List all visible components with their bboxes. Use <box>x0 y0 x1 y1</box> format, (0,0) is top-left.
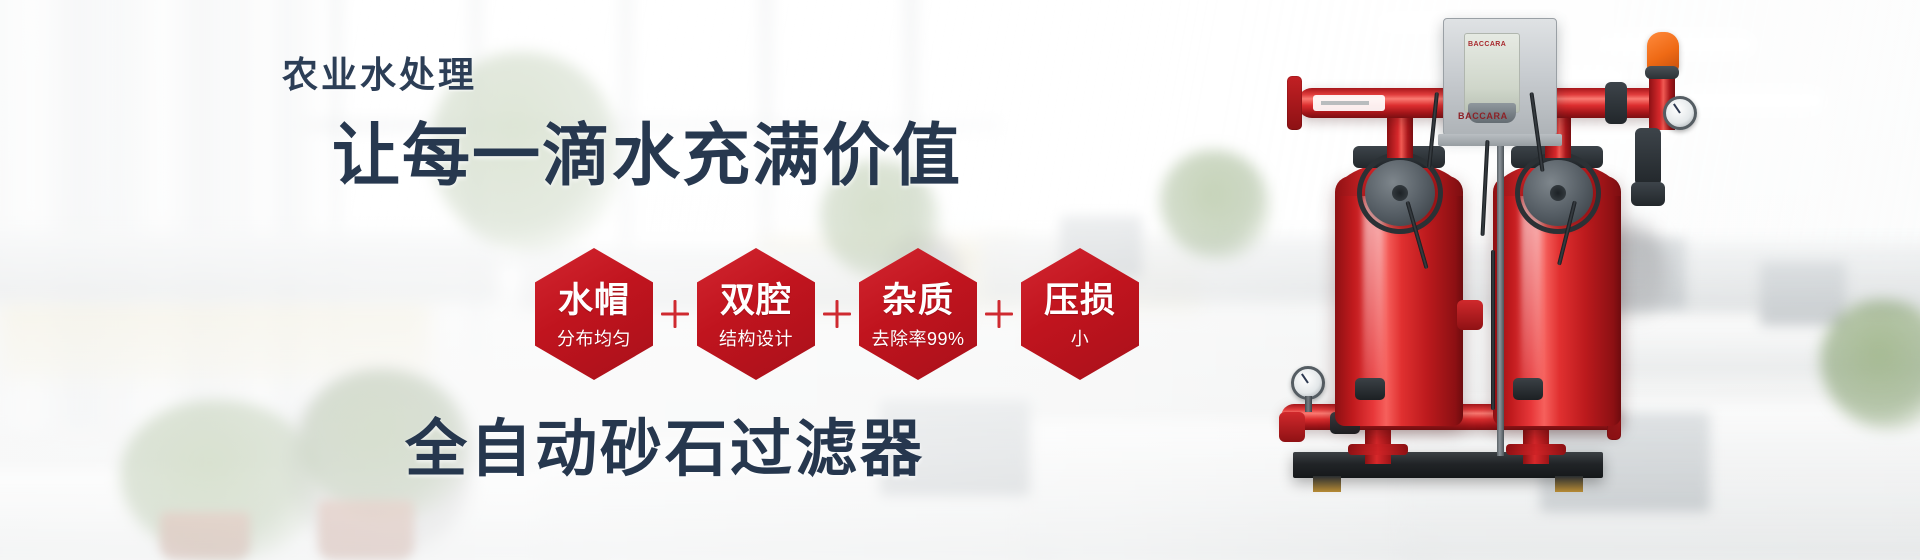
badge-title: 水帽 <box>558 283 630 319</box>
feature-badge-impurity[interactable]: 杂质 去除率99% <box>859 248 977 380</box>
feature-badge-dual-chamber[interactable]: 双腔 结构设计 <box>697 248 815 380</box>
manifold-clamp-upper <box>1605 82 1627 124</box>
hero-banner: 农业水处理 让每一滴水充满价值 全自动砂石过滤器 水帽 分布均匀 双腔 结构设计… <box>0 0 1920 560</box>
hexagon-shape: 压损 小 <box>1021 248 1139 380</box>
badge-subtitle: 去除率99% <box>871 325 964 351</box>
base-foot <box>1555 476 1583 492</box>
banner-eyebrow: 农业水处理 <box>282 46 477 98</box>
control-cable <box>1480 140 1489 236</box>
plus-separator-icon <box>815 292 859 336</box>
plus-separator-icon <box>977 292 1021 336</box>
right-valve-base <box>1631 182 1665 206</box>
control-cable <box>1491 250 1495 410</box>
badge-title: 杂质 <box>882 283 954 319</box>
valve-bolt-ring-right <box>1515 152 1601 234</box>
tank-inspection-port <box>1457 300 1483 330</box>
plus-separator-icon <box>653 292 697 336</box>
base-foot <box>1313 476 1341 492</box>
badge-subtitle: 小 <box>1071 325 1090 351</box>
controller-logo: BACCARA <box>1458 111 1508 121</box>
pressure-gauge-upper <box>1663 96 1697 130</box>
badge-subtitle: 分布均匀 <box>557 325 631 351</box>
tank-leg-plate <box>1348 444 1408 455</box>
filter-controller-box[interactable]: BACCARA BACCARA <box>1443 18 1557 136</box>
tank-drain-left <box>1355 378 1385 400</box>
side-outlet-port <box>1279 412 1305 442</box>
feature-badge-water-cap[interactable]: 水帽 分布均匀 <box>535 248 653 380</box>
banner-headline: 让每一滴水充满价值 <box>332 100 962 199</box>
steel-base-frame <box>1293 452 1603 478</box>
tank-drain-right <box>1513 378 1543 400</box>
pressure-gauge-lower <box>1291 366 1325 400</box>
tank-leg-plate <box>1506 444 1566 455</box>
feature-badge-pressure-loss[interactable]: 压损 小 <box>1021 248 1139 380</box>
controller-mount-plate <box>1438 134 1562 146</box>
badge-title: 压损 <box>1044 283 1116 319</box>
badge-subtitle: 结构设计 <box>719 325 793 351</box>
hexagon-shape: 双腔 结构设计 <box>697 248 815 380</box>
controller-support-pole <box>1497 146 1504 456</box>
hexagon-shape: 杂质 去除率99% <box>859 248 977 380</box>
inlet-flange <box>1287 76 1302 130</box>
banner-subline: 全自动砂石过滤器 <box>405 398 925 488</box>
badge-title: 双腔 <box>720 283 792 319</box>
hexagon-shape: 水帽 分布均匀 <box>535 248 653 380</box>
feature-badge-row: 水帽 分布均匀 双腔 结构设计 杂质 去除率99% 压损 小 <box>535 248 1139 380</box>
product-sand-filter: BACCARA BACCARA <box>1235 0 1795 560</box>
air-valve-cap <box>1645 66 1679 79</box>
right-valve-body <box>1635 128 1661 186</box>
controller-brand-label: BACCARA <box>1468 41 1506 48</box>
gauge-stem <box>1305 396 1312 412</box>
flow-arrow-decal <box>1313 95 1385 111</box>
